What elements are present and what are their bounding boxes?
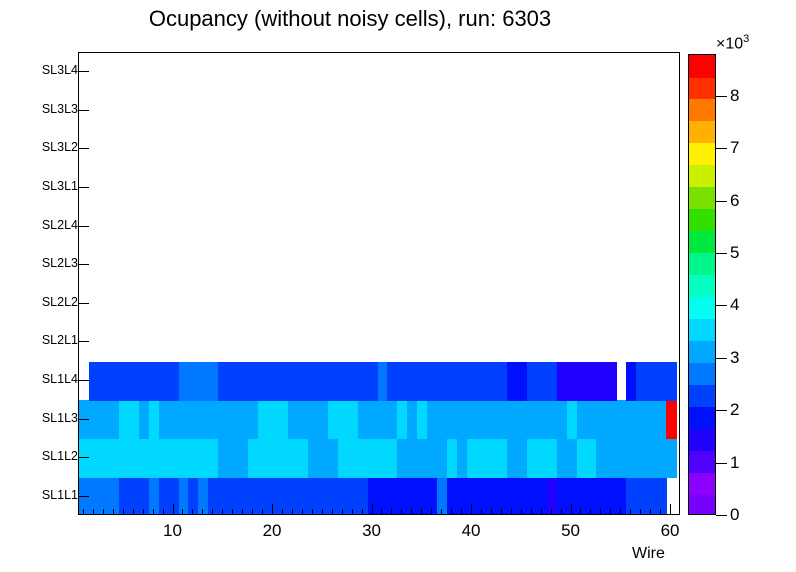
y-axis-label-sl3l1: SL3L1 [42,179,78,193]
color-bar-exponent: ×103 [716,33,749,53]
heatmap-cell [218,362,229,401]
heatmap-cell [368,439,379,478]
heatmap-cell [497,439,508,478]
heatmap-cell [149,400,160,439]
heatmap-cell [666,362,677,401]
y-axis-tick [78,148,89,149]
heatmap-cell [407,400,418,439]
x-axis-title: Wire [632,545,665,563]
heatmap-cell [268,439,279,478]
heatmap-cell [397,477,408,514]
color-bar-band [689,55,715,78]
heatmap-cell [527,362,538,401]
heatmap-cell [328,477,339,514]
x-axis-minor-tick [342,509,343,515]
heatmap-cell [328,439,339,478]
x-axis-minor-tick [83,509,84,515]
heatmap-cell [318,400,329,439]
heatmap-cell [238,477,249,514]
heatmap-cell [198,477,209,514]
x-axis-tick-label: 20 [252,521,292,541]
x-axis-minor-tick [113,509,114,515]
heatmap-cell [338,362,349,401]
heatmap-cell [368,362,379,401]
y-axis-label-sl3l2: SL3L2 [42,140,78,154]
heatmap-cell [159,439,170,478]
x-axis-minor-tick [292,509,293,515]
y-axis-label-sl1l2: SL1L2 [42,449,78,463]
x-axis-major-tick [670,504,671,515]
x-axis-minor-tick [103,509,104,515]
x-axis-minor-tick [123,509,124,515]
x-axis-minor-tick [222,509,223,515]
heatmap-cell [378,439,389,478]
heatmap-cell [467,439,478,478]
heatmap-cell [328,400,339,439]
heatmap-cell [109,400,120,439]
heatmap-cell [567,400,578,439]
x-axis-minor-tick [441,509,442,515]
heatmap-cell [99,400,110,439]
heatmap-cell [288,400,299,439]
heatmap-cell [656,400,667,439]
heatmap-cell [89,439,100,478]
heatmap-cell [596,400,607,439]
heatmap-cell [626,362,637,401]
heatmap-cell [278,400,289,439]
x-axis-minor-tick [481,509,482,515]
color-bar-band [689,384,715,407]
x-axis-minor-tick [421,509,422,515]
heatmap-cell [527,477,538,514]
color-bar-tick-label: 5 [730,244,739,261]
y-axis-tick [78,341,89,342]
heatmap-cell [109,439,120,478]
heatmap-cell [636,439,647,478]
x-axis-tick-label: 40 [451,521,491,541]
heatmap-cell [368,400,379,439]
heatmap-cell [119,400,130,439]
heatmap-cell [397,439,408,478]
heatmap-cell [139,400,150,439]
color-bar-band [689,472,715,495]
heatmap-cells [79,53,679,514]
heatmap-cell [258,362,269,401]
heatmap-cell [527,400,538,439]
color-bar [688,54,716,515]
heatmap-cell [387,362,398,401]
heatmap-cell [557,400,568,439]
heatmap-cell [89,400,100,439]
plot-frame [78,52,680,515]
x-axis-minor-tick [302,509,303,515]
heatmap-cell [159,362,170,401]
heatmap-cell [497,362,508,401]
x-axis-minor-tick [312,509,313,515]
heatmap-cell [198,439,209,478]
y-axis-label-sl2l2: SL2L2 [42,295,78,309]
heatmap-cell [656,362,667,401]
x-axis-major-tick [272,504,273,515]
heatmap-cell [378,477,389,514]
heatmap-cell [338,439,349,478]
x-axis-minor-tick [431,509,432,515]
canvas: Ocupancy (without noisy cells), run: 630… [0,0,796,572]
heatmap-cell [437,362,448,401]
color-bar-tick-label: 0 [730,506,739,523]
x-axis-minor-tick [362,509,363,515]
x-axis-minor-tick [143,509,144,515]
heatmap-cell [228,400,239,439]
heatmap-cell [89,362,100,401]
page-title: Ocupancy (without noisy cells), run: 630… [0,6,700,32]
color-bar-tick-label: 2 [730,401,739,418]
heatmap-cell [616,439,627,478]
y-axis-tick [78,496,89,497]
y-axis-label-sl1l1: SL1L1 [42,488,78,502]
x-axis-minor-tick [461,509,462,515]
heatmap-cell [288,362,299,401]
heatmap-cell [208,477,219,514]
y-axis-tick [78,457,89,458]
heatmap-cell [268,362,279,401]
heatmap-cell [447,439,458,478]
heatmap-cell [507,477,518,514]
heatmap-cell [487,400,498,439]
color-bar-tick [716,358,727,359]
x-axis-minor-tick [202,509,203,515]
heatmap-cell [378,362,389,401]
heatmap-cell [467,400,478,439]
x-axis-minor-tick [600,509,601,515]
heatmap-cell [318,439,329,478]
heatmap-cell [636,400,647,439]
heatmap-cell [457,477,468,514]
heatmap-cell [159,400,170,439]
heatmap-cell [497,400,508,439]
heatmap-cell [487,439,498,478]
x-axis-minor-tick [590,509,591,515]
x-axis-minor-tick [541,509,542,515]
heatmap-cell [577,362,588,401]
heatmap-cell [387,439,398,478]
heatmap-cell [228,439,239,478]
heatmap-cell [169,400,180,439]
x-axis-minor-tick [212,509,213,515]
color-bar-band [689,340,715,363]
color-bar-tick [716,253,727,254]
heatmap-cell [318,362,329,401]
color-bar-band [689,121,715,144]
heatmap-cell [567,439,578,478]
heatmap-cell [387,400,398,439]
heatmap-cell [606,400,617,439]
heatmap-cell [228,477,239,514]
color-bar-band [689,187,715,210]
heatmap-cell [169,439,180,478]
heatmap-cell [636,362,647,401]
heatmap-cell [547,400,558,439]
heatmap-cell [109,477,120,514]
heatmap-cell [179,439,190,478]
color-bar-tick [716,305,727,306]
heatmap-cell [348,439,359,478]
x-axis-minor-tick [391,509,392,515]
color-bar-exponent-power: 3 [743,33,749,45]
heatmap-cell [288,477,299,514]
heatmap-cell [447,477,458,514]
heatmap-cell [507,439,518,478]
x-axis-minor-tick [491,509,492,515]
x-axis-minor-tick [282,509,283,515]
heatmap-cell [258,439,269,478]
heatmap-cell [606,477,617,514]
x-axis-minor-tick [232,509,233,515]
heatmap-cell [278,362,289,401]
heatmap-cell [268,400,279,439]
heatmap-cell [666,439,677,478]
heatmap-cell [99,439,110,478]
x-axis-minor-tick [630,509,631,515]
y-axis-label-sl3l4: SL3L4 [42,63,78,77]
heatmap-cell [258,400,269,439]
heatmap-cell [427,362,438,401]
heatmap-cell [397,362,408,401]
heatmap-cell [397,400,408,439]
heatmap-cell [626,477,637,514]
heatmap-cell [427,400,438,439]
color-bar-band [689,450,715,473]
heatmap-cell [557,439,568,478]
x-axis-minor-tick [411,509,412,515]
heatmap-cell [596,477,607,514]
heatmap-cell [198,400,209,439]
heatmap-cell [238,439,249,478]
heatmap-cell [527,439,538,478]
heatmap-cell [457,362,468,401]
heatmap-cell [457,400,468,439]
x-axis-minor-tick [640,509,641,515]
x-axis-minor-tick [620,509,621,515]
heatmap-cell [547,362,558,401]
x-axis-minor-tick [153,509,154,515]
heatmap-cell [507,400,518,439]
heatmap-cell [278,477,289,514]
heatmap-cell [99,477,110,514]
x-axis-major-tick [372,504,373,515]
x-axis-minor-tick [182,509,183,515]
x-axis-minor-tick [650,509,651,515]
heatmap-cell [218,439,229,478]
heatmap-cell [616,477,627,514]
x-axis-minor-tick [133,509,134,515]
heatmap-cell [288,439,299,478]
heatmap-cell [208,400,219,439]
color-bar-tick [716,148,727,149]
heatmap-cell [437,439,448,478]
color-bar-tick [716,201,727,202]
x-axis-minor-tick [511,509,512,515]
x-axis-minor-tick [660,509,661,515]
heatmap-cell [447,400,458,439]
y-axis-tick [78,71,89,72]
color-bar-tick-label: 8 [730,87,739,104]
heatmap-cell [467,477,478,514]
heatmap-cell [348,400,359,439]
heatmap-cell [179,362,190,401]
color-bar-band [689,165,715,188]
heatmap-cell [218,400,229,439]
color-bar-tick-label: 1 [730,454,739,471]
y-axis-tick [78,187,89,188]
heatmap-cell [109,362,120,401]
heatmap-cell [656,439,667,478]
y-axis-label-sl2l1: SL2L1 [42,333,78,347]
color-bar-band [689,275,715,298]
y-axis-label-sl1l3: SL1L3 [42,411,78,425]
x-axis-minor-tick [401,509,402,515]
heatmap-cell [338,400,349,439]
x-axis-minor-tick [163,509,164,515]
heatmap-cell [557,362,568,401]
heatmap-cell [198,362,209,401]
heatmap-cell [179,477,190,514]
heatmap-cell [407,362,418,401]
heatmap-cell [179,400,190,439]
heatmap-cell [636,477,647,514]
heatmap-cell [497,477,508,514]
color-bar-tick-label: 6 [730,192,739,209]
heatmap-cell [606,362,617,401]
y-axis-tick [78,303,89,304]
heatmap-cell [507,362,518,401]
x-axis-minor-tick [501,509,502,515]
heatmap-cell [577,400,588,439]
heatmap-cell [298,400,309,439]
heatmap-cell [169,362,180,401]
heatmap-cell [387,477,398,514]
color-bar-tick [716,96,727,97]
heatmap-cell [238,400,249,439]
x-axis-tick-label: 50 [551,521,591,541]
heatmap-cell [407,439,418,478]
x-axis-minor-tick [242,509,243,515]
x-axis-minor-tick [252,509,253,515]
color-bar-tick-label: 3 [730,349,739,366]
y-axis-label-sl2l4: SL2L4 [42,218,78,232]
heatmap-cell [298,439,309,478]
heatmap-cell [258,477,269,514]
color-bar-band [689,209,715,232]
heatmap-cell [616,400,627,439]
y-axis-tick [78,226,89,227]
color-bar-tick [716,463,727,464]
heatmap-cell [467,362,478,401]
color-bar-band [689,362,715,385]
color-bar-band [689,318,715,341]
heatmap-cell [666,400,677,439]
color-bar-band [689,494,715,515]
color-bar-band [689,99,715,122]
heatmap-cell [437,400,448,439]
heatmap-cell [517,439,528,478]
color-bar-tick-label: 4 [730,296,739,313]
x-axis-minor-tick [521,509,522,515]
heatmap-cell [606,439,617,478]
y-axis-label-sl2l3: SL2L3 [42,256,78,270]
y-axis-tick [78,380,89,381]
heatmap-cell [626,400,637,439]
y-axis-label-sl3l3: SL3L3 [42,102,78,116]
heatmap-cell [427,439,438,478]
x-axis-minor-tick [531,509,532,515]
heatmap-cell [437,477,448,514]
heatmap-cell [89,477,100,514]
heatmap-cell [407,477,418,514]
heatmap-cell [567,362,578,401]
heatmap-cell [218,477,229,514]
color-bar-band [689,77,715,100]
heatmap-cell [517,362,528,401]
color-bar-tick [716,515,727,516]
x-axis-minor-tick [352,509,353,515]
y-axis-tick [78,419,89,420]
heatmap-cell [656,477,667,514]
x-axis-tick-label: 60 [650,521,690,541]
x-axis-minor-tick [192,509,193,515]
heatmap-cell [119,439,130,478]
heatmap-cell [99,362,110,401]
heatmap-cell [298,477,309,514]
x-axis-minor-tick [580,509,581,515]
x-axis-major-tick [471,504,472,515]
y-axis-tick [78,110,89,111]
heatmap-cell [208,362,219,401]
heatmap-cell [119,477,130,514]
heatmap-cell [427,477,438,514]
color-bar-band [689,428,715,451]
heatmap-cell [208,439,219,478]
heatmap-cell [139,362,150,401]
x-axis-minor-tick [332,509,333,515]
x-axis-major-tick [571,504,572,515]
heatmap-cell [328,362,339,401]
x-axis-minor-tick [322,509,323,515]
x-axis-minor-tick [381,509,382,515]
heatmap-cell [268,477,279,514]
x-axis-minor-tick [451,509,452,515]
heatmap-cell [547,439,558,478]
heatmap-cell [487,362,498,401]
heatmap-cell [626,439,637,478]
color-bar-exponent-base: ×10 [716,35,743,52]
heatmap-cell [447,362,458,401]
heatmap-cell [318,477,329,514]
x-axis-minor-tick [610,509,611,515]
x-axis-tick-label: 10 [153,521,193,541]
heatmap-cell [577,439,588,478]
x-axis-major-tick [173,504,174,515]
heatmap-cell [517,477,528,514]
heatmap-cell [298,362,309,401]
heatmap-cell [517,400,528,439]
heatmap-cell [348,362,359,401]
heatmap-cell [577,477,588,514]
x-axis-tick-label: 30 [352,521,392,541]
color-bar-band [689,253,715,276]
color-bar-tick [716,410,727,411]
heatmap-cell [228,362,239,401]
